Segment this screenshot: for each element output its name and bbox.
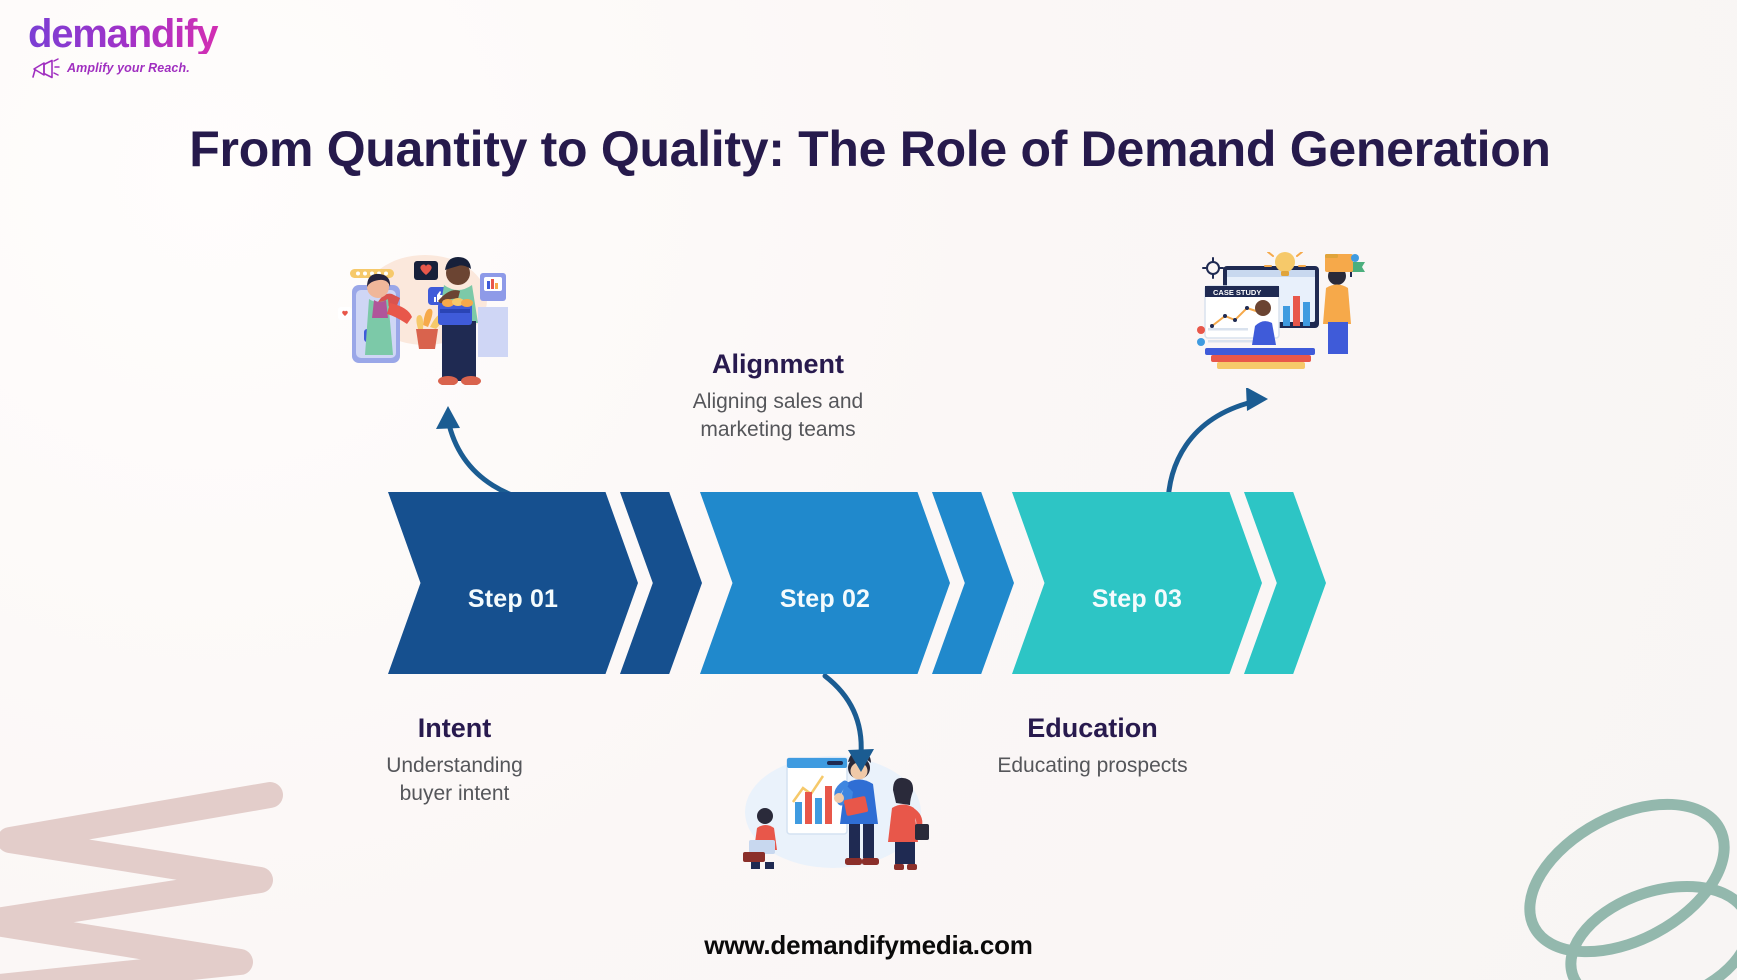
case-study-card-label: CASE STUDY xyxy=(1213,288,1261,297)
callout-education: Education Educating prospects xyxy=(950,712,1235,780)
logo-tagline: Amplify your Reach. xyxy=(67,61,190,75)
chevron-step-02-label: Step 02 xyxy=(780,585,870,614)
chevron-step-01-label: Step 01 xyxy=(468,585,558,614)
callout-intent: Intent Understanding buyer intent xyxy=(332,712,577,808)
megaphone-icon xyxy=(30,57,60,79)
callout-education-desc: Educating prospects xyxy=(950,752,1235,780)
callout-alignment-title: Alignment xyxy=(648,348,908,380)
callout-alignment-desc: Aligning sales and marketing teams xyxy=(648,388,908,443)
callout-alignment-desc-line1: Aligning sales and xyxy=(648,388,908,416)
callout-education-title: Education xyxy=(950,712,1235,744)
callout-alignment-desc-line2: marketing teams xyxy=(648,416,908,444)
chevron-step-03[interactable]: Step 03 xyxy=(1012,492,1262,674)
social-shopping-illustration xyxy=(330,245,510,385)
callout-intent-desc-line1: Understanding xyxy=(332,752,577,780)
process-chevron-band: Step 01 Step 02 Step 03 xyxy=(388,492,1388,674)
brand-logo[interactable]: demandify Amplify your Reach. xyxy=(28,14,288,79)
callout-intent-title: Intent xyxy=(332,712,577,744)
chevron-step-03-label: Step 03 xyxy=(1092,585,1182,614)
callout-alignment: Alignment Aligning sales and marketing t… xyxy=(648,348,908,444)
page-title: From Quantity to Quality: The Role of De… xyxy=(170,120,1570,179)
logo-wordmark: demandify xyxy=(28,14,288,54)
chevron-step-01[interactable]: Step 01 xyxy=(388,492,638,674)
chevron-step-02[interactable]: Step 02 xyxy=(700,492,950,674)
callout-intent-desc: Understanding buyer intent xyxy=(332,752,577,807)
infographic-canvas: demandify Amplify your Reach. From Quant… xyxy=(0,0,1737,980)
case-study-illustration: CASE STUDY xyxy=(1185,252,1375,372)
callout-intent-desc-line2: buyer intent xyxy=(332,780,577,808)
callout-education-desc-line1: Educating prospects xyxy=(950,752,1235,780)
footer-website[interactable]: www.demandifymedia.com xyxy=(0,930,1737,961)
team-analytics-illustration xyxy=(735,740,930,875)
